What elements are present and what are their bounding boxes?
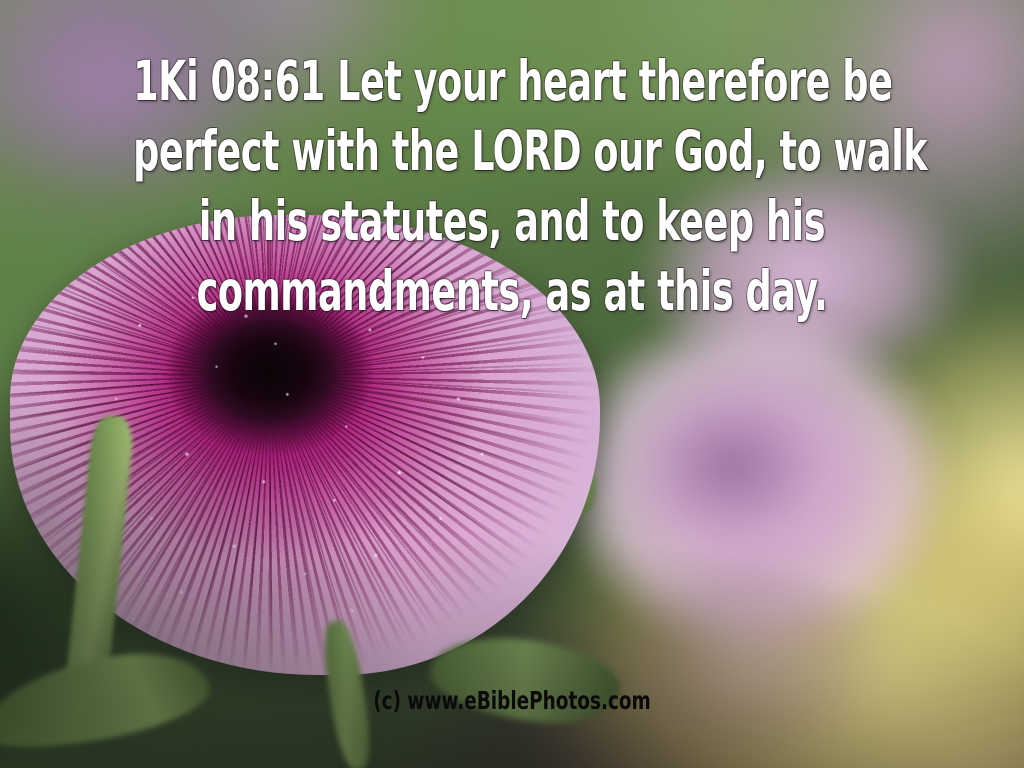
verse-line-4: commandments, as at this day. bbox=[133, 256, 891, 326]
copyright-watermark: (c) www.eBiblePhotos.com bbox=[92, 686, 932, 715]
verse-line-2: perfect with the LORD our God, to walk bbox=[133, 116, 891, 186]
verse-text-block: 1Ki 08:61 Let your heart therefore be pe… bbox=[133, 46, 891, 326]
verse-line-3: in his statutes, and to keep his bbox=[133, 186, 891, 256]
verse-line-1: 1Ki 08:61 Let your heart therefore be bbox=[133, 46, 891, 116]
verse-photo-canvas: 1Ki 08:61 Let your heart therefore be pe… bbox=[0, 0, 1024, 768]
